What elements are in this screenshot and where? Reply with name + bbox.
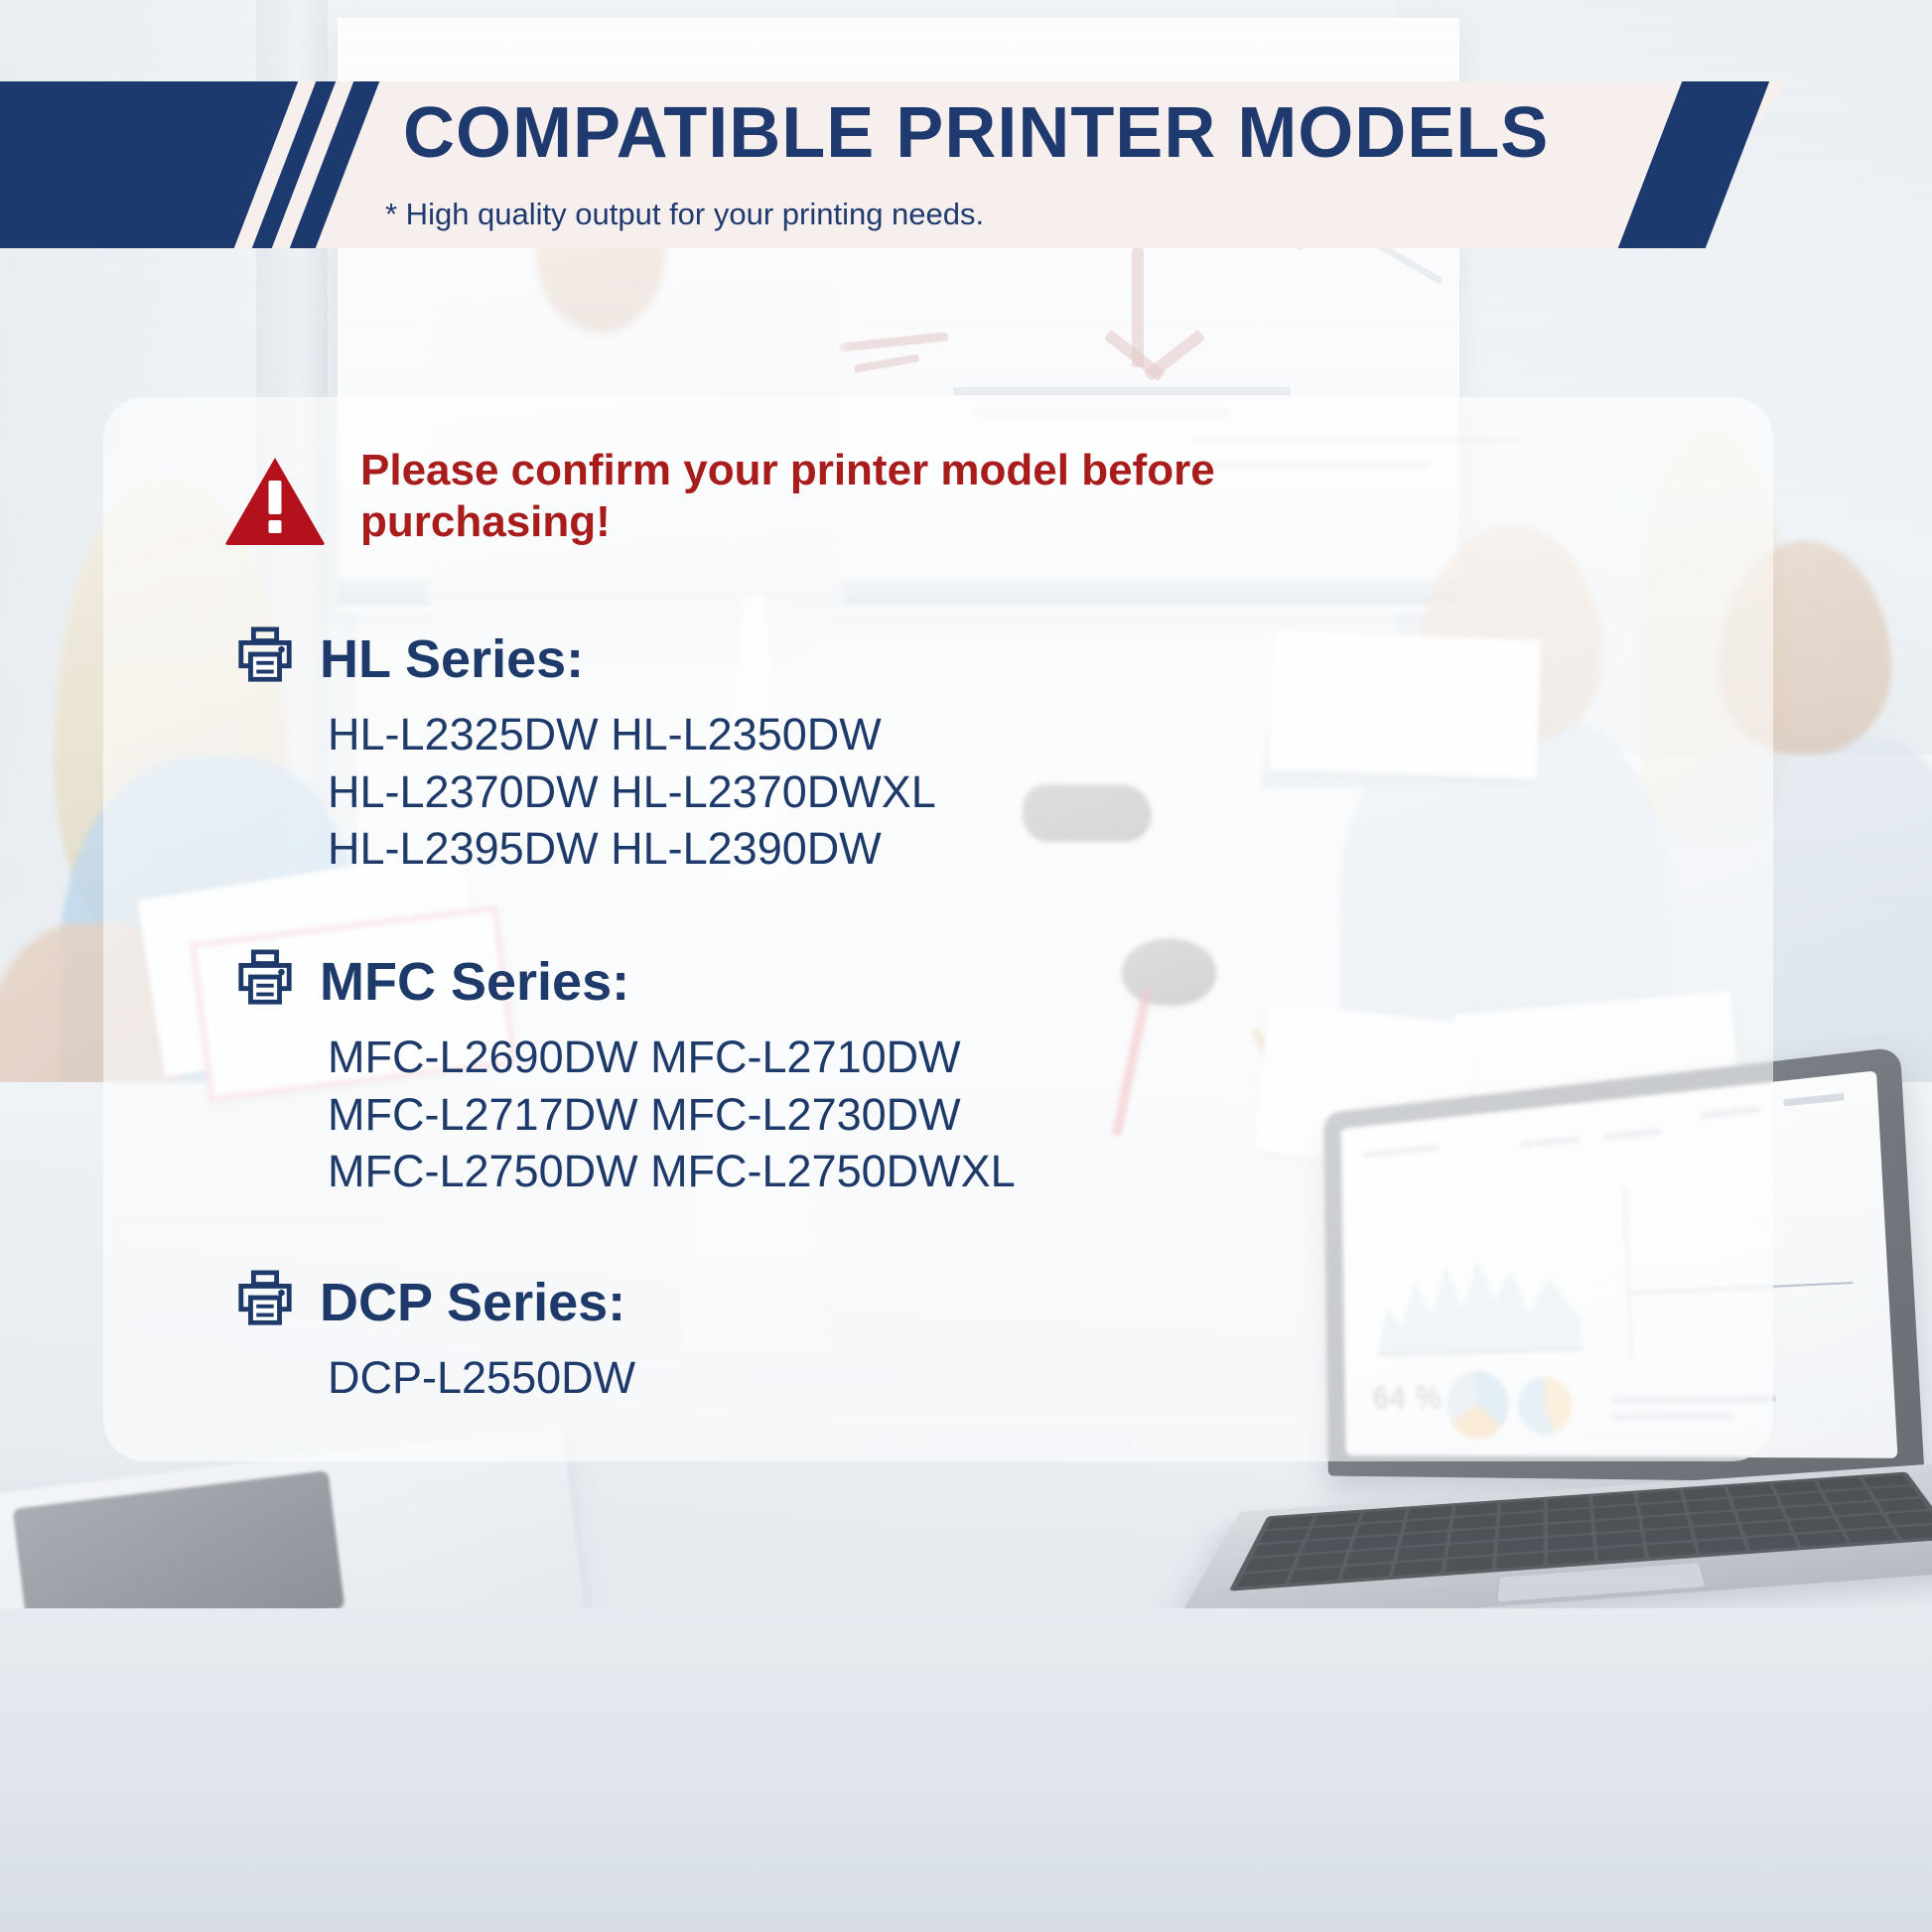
warning-notice: Please confirm your printer model before… — [223, 445, 1353, 551]
warning-text: Please confirm your printer model before… — [360, 445, 1353, 548]
series-model-list: DCP-L2550DW — [328, 1349, 635, 1407]
series-title: DCP Series: — [320, 1276, 625, 1329]
model-line: HL-L2325DW HL-L2350DW — [328, 706, 936, 763]
banner-title: COMPATIBLE PRINTER MODELS — [403, 97, 1549, 169]
series-block-hl: HL Series: HL-L2325DW HL-L2350DW HL-L237… — [234, 625, 936, 878]
model-line: HL-L2370DW HL-L2370DWXL — [328, 763, 936, 821]
printer-icon — [234, 948, 296, 1015]
model-line: MFC-L2750DW MFC-L2750DWXL — [328, 1143, 1016, 1200]
model-line: MFC-L2690DW MFC-L2710DW — [328, 1029, 1016, 1086]
model-line: DCP-L2550DW — [328, 1349, 635, 1407]
series-model-list: HL-L2325DW HL-L2350DW HL-L2370DW HL-L237… — [328, 706, 936, 878]
model-line: HL-L2395DW HL-L2390DW — [328, 820, 936, 878]
series-model-list: MFC-L2690DW MFC-L2710DW MFC-L2717DW MFC-… — [328, 1029, 1016, 1200]
product-infographic: 64 % — [0, 0, 1932, 1932]
series-block-mfc: MFC Series: MFC-L2690DW MFC-L2710DW MFC-… — [234, 948, 1016, 1200]
warning-triangle-icon — [223, 455, 327, 551]
printer-icon — [234, 625, 296, 692]
series-title: MFC Series: — [320, 955, 629, 1009]
header-banner: COMPATIBLE PRINTER MODELS * High quality… — [0, 81, 1787, 248]
printer-icon — [234, 1269, 296, 1335]
series-title: HL Series: — [320, 632, 584, 686]
series-block-dcp: DCP Series: DCP-L2550DW — [234, 1269, 635, 1407]
banner-subtitle: * High quality output for your printing … — [385, 199, 984, 229]
model-line: MFC-L2717DW MFC-L2730DW — [328, 1086, 1016, 1144]
